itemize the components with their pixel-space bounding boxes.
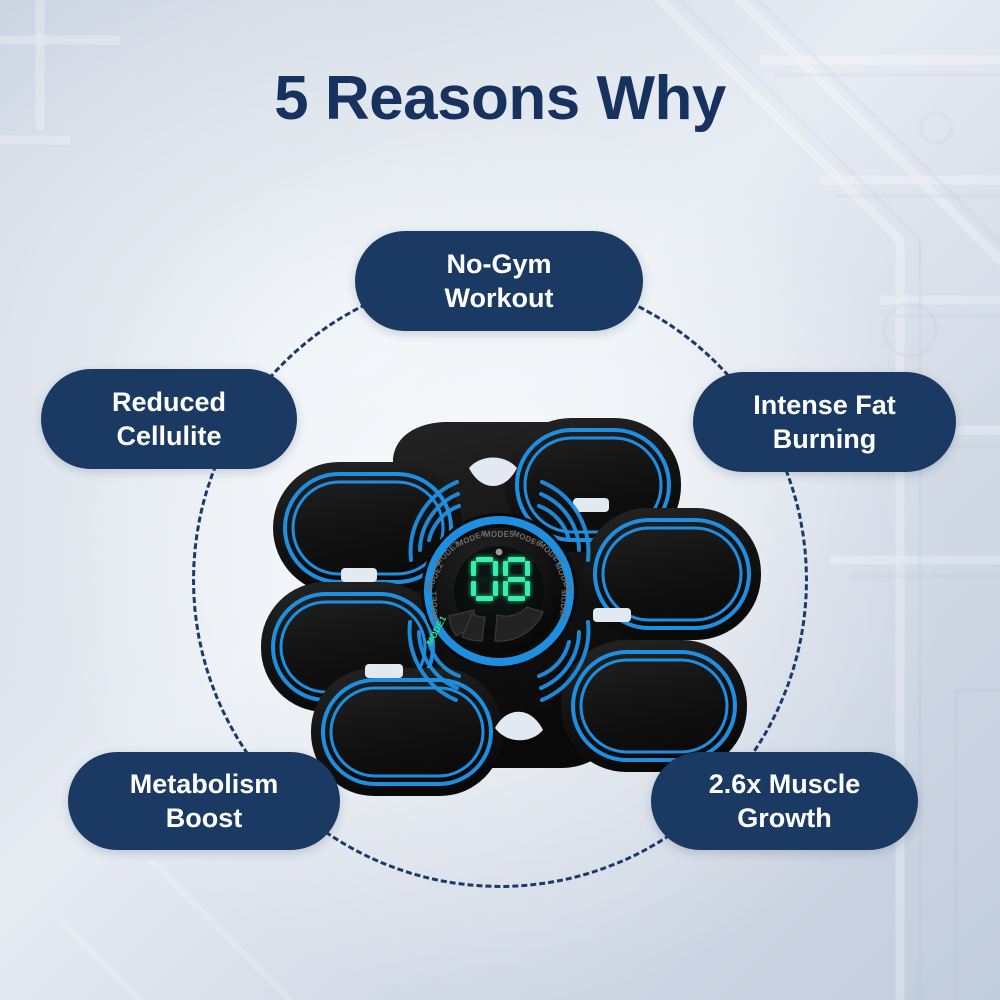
power-indicator-dot — [496, 549, 503, 556]
reason-line-2: Cellulite — [112, 419, 226, 453]
display-digit-right — [503, 557, 530, 601]
reason-line-1: Reduced — [112, 385, 226, 419]
device-display — [466, 556, 534, 602]
reason-pill-muscle-growth[interactable]: 2.6x Muscle Growth — [651, 752, 918, 850]
reason-line-1: Intense Fat — [753, 388, 896, 422]
pad-bottom-left — [311, 668, 503, 796]
display-digit-left — [471, 557, 498, 601]
dial-label-mode9: MODE9 — [558, 590, 569, 621]
reason-line-2: Growth — [709, 801, 861, 835]
reason-line-2: Boost — [130, 801, 279, 835]
poster-canvas: 5 Reasons Why — [0, 0, 1000, 1000]
reason-line-1: 2.6x Muscle — [709, 767, 861, 801]
page-title: 5 Reasons Why — [0, 66, 1000, 131]
reason-pill-reduced-cellulite[interactable]: Reduced Cellulite — [41, 369, 297, 469]
dial-label-mode5: MODE5 — [484, 530, 515, 539]
reason-pill-intense-fat-burning[interactable]: Intense Fat Burning — [693, 372, 956, 472]
reason-pill-no-gym-workout[interactable]: No-Gym Workout — [355, 231, 643, 331]
reason-pill-metabolism-boost[interactable]: Metabolism Boost — [68, 752, 340, 850]
reason-line-2: Burning — [753, 422, 896, 456]
reason-line-1: No-Gym — [445, 247, 554, 281]
reason-line-1: Metabolism — [130, 767, 279, 801]
reason-line-2: Workout — [445, 281, 554, 315]
